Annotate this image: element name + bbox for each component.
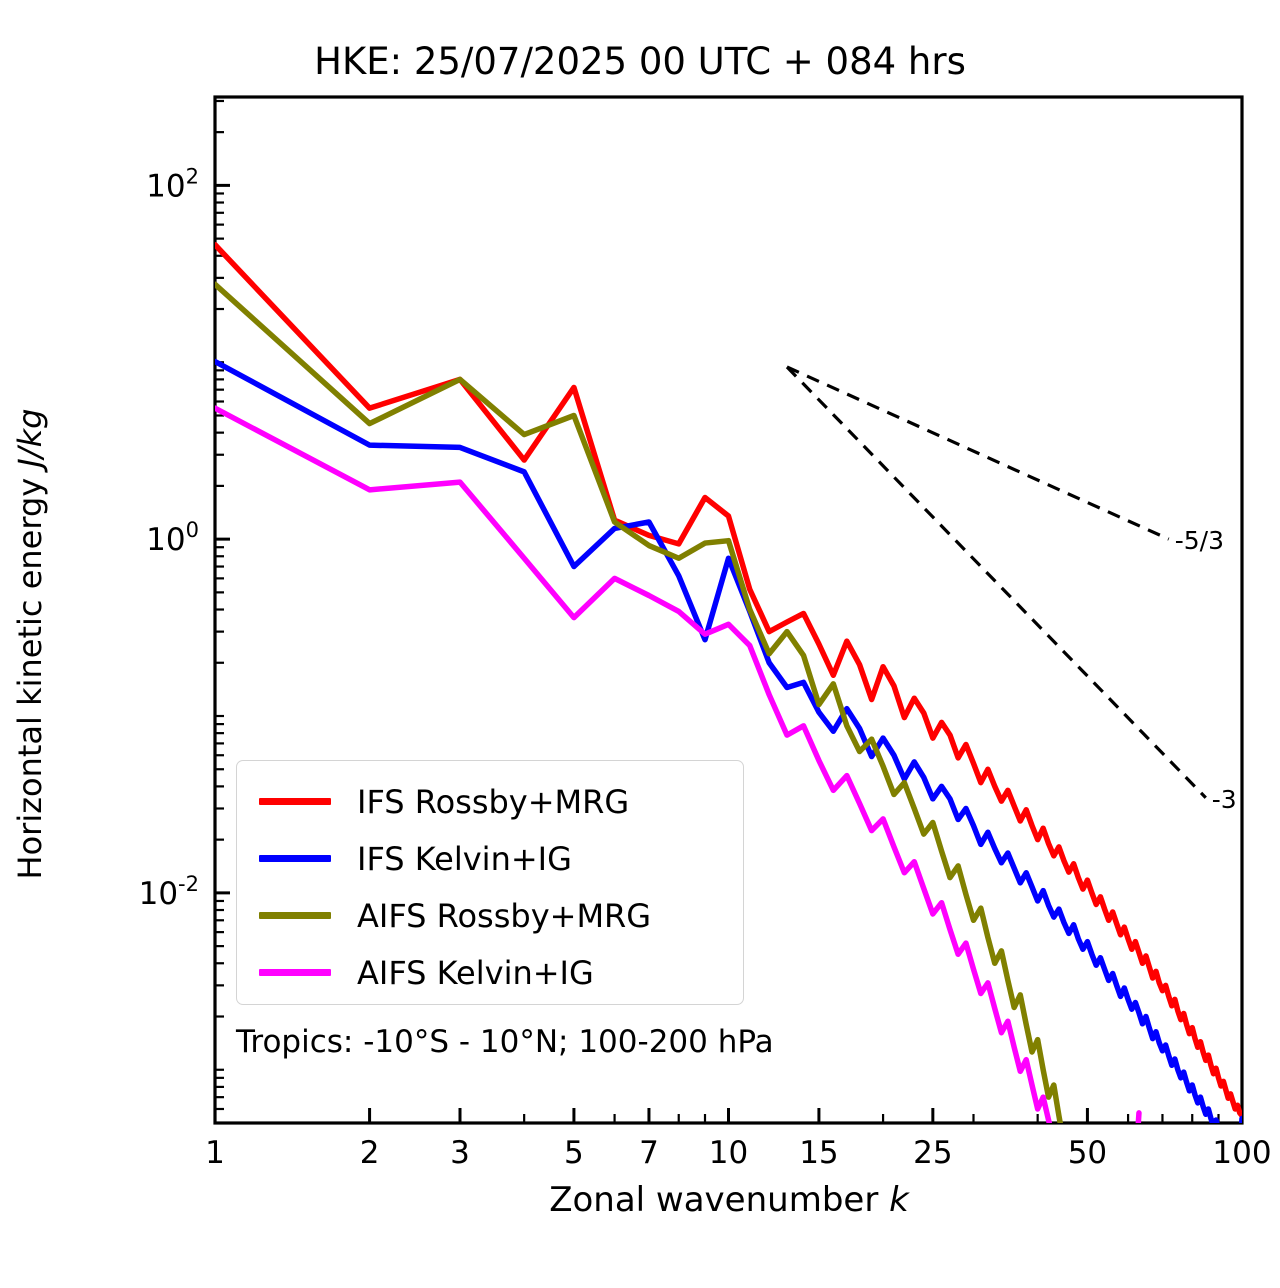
x-tick-label: 100 xyxy=(1212,1135,1271,1171)
legend-item-label: AIFS Rossby+MRG xyxy=(357,900,651,932)
y-tick-mantissa: 10 xyxy=(139,876,178,912)
legend-item[interactable]: IFS Kelvin+IG xyxy=(237,830,743,887)
legend-color-swatch xyxy=(259,912,331,919)
y-tick-exponent: -2 xyxy=(178,872,199,896)
legend-item-label: IFS Rossby+MRG xyxy=(357,786,629,818)
y-tick-exponent: 2 xyxy=(186,164,199,188)
x-tick-label: 50 xyxy=(1068,1135,1107,1171)
x-tick-label: 5 xyxy=(564,1135,584,1171)
x-tick-label: 1 xyxy=(205,1135,225,1171)
y-tick-label: 100 xyxy=(146,518,199,558)
plot-area: 123571015255010010210010-2-5/3-3 xyxy=(0,0,1280,1288)
y-tick-exponent: 0 xyxy=(186,518,199,542)
x-axis-ticks: 1235710152550100 xyxy=(205,1108,1271,1171)
legend: IFS Rossby+MRGIFS Kelvin+IGAIFS Rossby+M… xyxy=(236,760,744,1005)
reference-line--5-3 xyxy=(787,367,1169,539)
legend-item[interactable]: AIFS Rossby+MRG xyxy=(237,887,743,944)
reference-line-label: -5/3 xyxy=(1175,526,1224,555)
legend-color-swatch xyxy=(259,798,331,805)
x-tick-label: 25 xyxy=(913,1135,952,1171)
x-tick-label: 3 xyxy=(450,1135,470,1171)
legend-color-swatch xyxy=(259,855,331,862)
x-tick-label: 7 xyxy=(639,1135,659,1171)
x-tick-label: 2 xyxy=(360,1135,380,1171)
legend-item[interactable]: AIFS Kelvin+IG xyxy=(237,944,743,1001)
region-annotation: Tropics: -10°S - 10°N; 100-200 hPa xyxy=(236,1024,774,1060)
legend-item[interactable]: IFS Rossby+MRG xyxy=(237,773,743,830)
x-tick-label: 15 xyxy=(799,1135,838,1171)
legend-item-label: AIFS Kelvin+IG xyxy=(357,957,594,989)
y-tick-mantissa: 10 xyxy=(146,168,185,204)
y-tick-mantissa: 10 xyxy=(146,522,185,558)
legend-item-label: IFS Kelvin+IG xyxy=(357,843,572,875)
figure-canvas: HKE: 25/07/2025 00 UTC + 084 hrs Horizon… xyxy=(0,0,1280,1288)
y-tick-label: 10-2 xyxy=(139,872,199,912)
legend-color-swatch xyxy=(259,969,331,976)
reference-line-label: -3 xyxy=(1212,785,1237,814)
y-tick-label: 102 xyxy=(146,164,199,204)
x-tick-label: 10 xyxy=(709,1135,748,1171)
